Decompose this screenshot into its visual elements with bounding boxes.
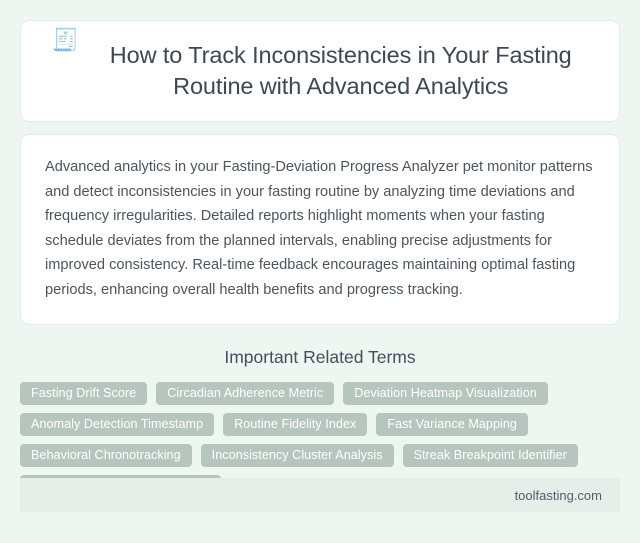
tag-item[interactable]: Streak Breakpoint Identifier	[403, 444, 578, 467]
tag-item[interactable]: Anomaly Detection Timestamp	[20, 413, 214, 436]
tag-item[interactable]: Fasting Drift Score	[20, 382, 147, 405]
tag-item[interactable]: Inconsistency Cluster Analysis	[201, 444, 394, 467]
tag-item[interactable]: Behavioral Chronotracking	[20, 444, 192, 467]
article-body: Advanced analytics in your Fasting-Devia…	[45, 155, 595, 302]
tag-item[interactable]: Fast Variance Mapping	[376, 413, 528, 436]
title-row: 🧾 How to Track Inconsistencies in Your F…	[43, 24, 597, 117]
article-card: Advanced analytics in your Fasting-Devia…	[20, 134, 620, 325]
site-footer: toolfasting.com	[20, 478, 620, 512]
page-title: How to Track Inconsistencies in Your Fas…	[93, 40, 588, 102]
title-card: 🧾 How to Track Inconsistencies in Your F…	[20, 20, 620, 122]
tag-item[interactable]: Circadian Adherence Metric	[156, 382, 334, 405]
footer-site-name: toolfasting.com	[515, 488, 602, 503]
page-root: 🧾 How to Track Inconsistencies in Your F…	[0, 0, 640, 543]
tag-item[interactable]: Routine Fidelity Index	[223, 413, 367, 436]
tag-item[interactable]: Deviation Heatmap Visualization	[343, 382, 548, 405]
receipt-document-icon: 🧾	[52, 25, 79, 55]
related-terms-heading: Important Related Terms	[20, 347, 620, 368]
